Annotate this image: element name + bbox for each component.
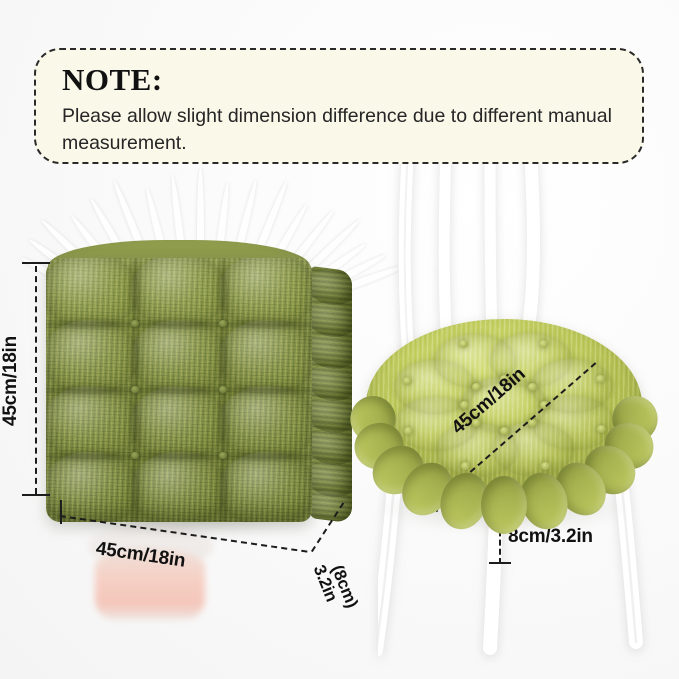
button-tuft xyxy=(131,386,139,393)
button-tuft xyxy=(131,452,139,459)
button-tuft xyxy=(460,401,469,409)
button-tuft xyxy=(472,383,481,391)
cushion-puff xyxy=(46,320,139,394)
button-tuft xyxy=(131,320,139,327)
note-box: NOTE: Please allow slight dimension diff… xyxy=(34,48,644,164)
cushion-puff xyxy=(219,258,312,328)
note-body: Please allow slight dimension difference… xyxy=(62,103,616,158)
cushion-puff xyxy=(131,452,228,522)
stitch-seam xyxy=(46,320,312,329)
cushion-puff xyxy=(46,258,139,328)
tufted-puff-grid xyxy=(46,258,312,522)
cushion-puff xyxy=(46,386,139,460)
note-title: NOTE: xyxy=(62,64,616,97)
cushion-puff xyxy=(131,386,228,460)
square-cushion xyxy=(34,232,354,562)
cushion-scallop xyxy=(481,476,527,534)
button-tuft xyxy=(539,340,548,348)
stitch-seam xyxy=(46,386,312,395)
cushion-puff xyxy=(219,320,312,394)
button-tuft xyxy=(500,375,509,383)
stitch-seam xyxy=(46,452,312,461)
round-cushion xyxy=(352,305,652,555)
cushion-puff xyxy=(219,386,312,460)
cushion-puff xyxy=(219,452,312,522)
button-tuft xyxy=(541,462,550,470)
cushion-puff xyxy=(46,452,139,522)
square-cushion-side-face xyxy=(310,266,352,523)
button-tuft xyxy=(403,377,412,385)
button-tuft xyxy=(528,383,537,391)
cushion-puff xyxy=(131,320,228,394)
button-tuft xyxy=(540,401,549,409)
product-image-canvas: 45cm/18in 45cm/18in 3.2in (8cm) 45cm/18i… xyxy=(0,0,679,679)
square-cushion-front-face xyxy=(46,258,312,522)
button-tuft xyxy=(500,427,509,435)
cushion-puff xyxy=(131,258,228,328)
button-tuft xyxy=(596,375,605,383)
